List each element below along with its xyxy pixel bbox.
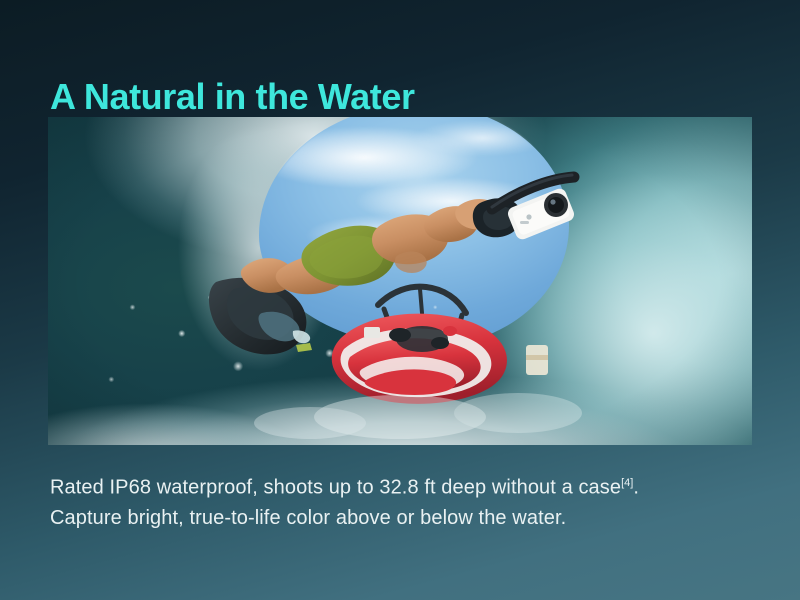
- hero-photo: [48, 117, 752, 445]
- caption-line-1-text: Rated IP68 waterproof, shoots up to 32.8…: [50, 477, 621, 499]
- footnote-marker: [4]: [621, 477, 633, 489]
- page-title: A Natural in the Water: [50, 76, 415, 117]
- caption-line-2: Capture bright, true-to-life color above…: [50, 503, 750, 533]
- slide-canvas: A Natural in the Water: [0, 0, 800, 600]
- caption-block: Rated IP68 waterproof, shoots up to 32.8…: [50, 468, 750, 533]
- photo-vignette: [48, 117, 752, 445]
- caption-line-1-period: .: [633, 477, 639, 499]
- caption-line-1: Rated IP68 waterproof, shoots up to 32.8…: [50, 468, 750, 503]
